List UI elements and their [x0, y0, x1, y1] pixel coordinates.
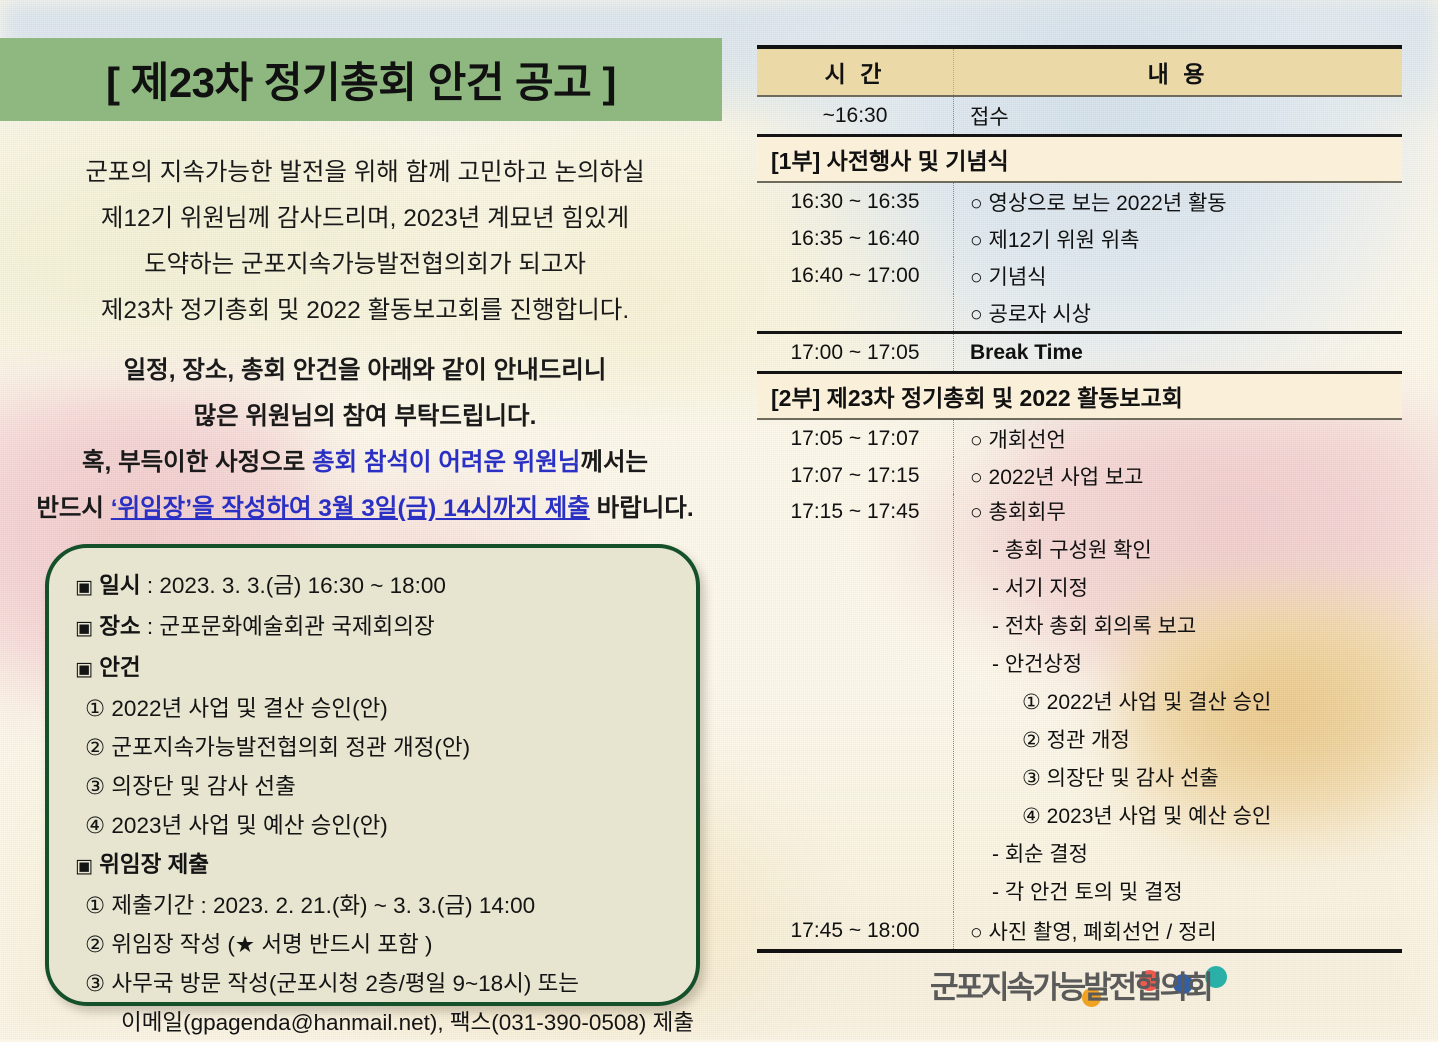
highlight-proxy-deadline: ‘위임장’을 작성하여 3월 3일(금) 14시까지 제출 — [111, 495, 590, 522]
details-box: ▣ 일시 : 2023. 3. 3.(금) 16:30 ~ 18:00 ▣ 장소… — [45, 544, 700, 1006]
table-row-reception: ~16:30 접수 — [757, 97, 1402, 134]
row-time: 17:07 ~ 17:15 — [757, 457, 953, 494]
detail-place-label: 장소 — [99, 614, 140, 639]
section-header-part1: [1부] 사전행사 및 기념식 — [757, 137, 1402, 181]
intro-line-proxy-note: 혹, 부득이한 사정으로 총회 참석이 어려운 위원님께서는 — [0, 440, 730, 486]
intro-line: 군포의 지속가능한 발전을 위해 함께 고민하고 논의하실 — [0, 150, 730, 196]
proxy-item: ③ 사무국 방문 작성(군포시청 2층/평일 9~18시) 또는 — [75, 964, 670, 1003]
square-bullet-icon: ▣ — [75, 618, 93, 639]
square-bullet-icon: ▣ — [75, 577, 93, 598]
business-subitem: ① 2022년 사업 및 결산 승인 — [970, 684, 1402, 722]
intro-line: 많은 위원님의 참여 부탁드립니다. — [0, 394, 730, 440]
agenda-item: ① 2022년 사업 및 결산 승인(안) — [75, 689, 670, 728]
business-item: - 총회 구성원 확인 — [970, 532, 1402, 570]
table-row: 17:07 ~ 17:15 ○ 2022년 사업 보고 — [757, 457, 1402, 494]
column-header-time: 시 간 — [757, 55, 953, 89]
table-row: 16:30 ~ 16:35 ○ 영상으로 보는 2022년 활동 — [757, 183, 1402, 220]
detail-date-value: : 2023. 3. 3.(금) 16:30 ~ 18:00 — [141, 573, 446, 598]
detail-date-label: 일시 — [99, 573, 140, 598]
row-content-block: ○ 총회회무 - 총회 구성원 확인 - 서기 지정 - 전차 총회 회의록 보… — [953, 494, 1402, 912]
detail-agenda-label: 안건 — [99, 655, 140, 680]
text-post: 께서는 — [580, 449, 648, 476]
proxy-contact: 이메일(gpagenda@hanmail.net), 팩스(031-390-05… — [75, 1003, 670, 1042]
detail-proxy-header: ▣ 위임장 제출 — [75, 845, 670, 886]
table-row: 16:35 ~ 16:40 ○ 제12기 위원 위촉 — [757, 220, 1402, 257]
intro-paragraph-1: 군포의 지속가능한 발전을 위해 함께 고민하고 논의하실 제12기 위원님께 … — [0, 150, 730, 334]
table-row: 16:40 ~ 17:00 ○ 기념식 — [757, 257, 1402, 294]
table-bottom-rule — [757, 949, 1402, 953]
logo-text: 군포지속가능발전협의회 — [930, 970, 1211, 1005]
business-item: - 각 안건 토의 및 결정 — [970, 874, 1402, 912]
row-content: ○ 기념식 — [953, 257, 1402, 294]
business-item: - 전차 총회 회의록 보고 — [970, 608, 1402, 646]
detail-agenda-header: ▣ 안건 — [75, 648, 670, 689]
agenda-item: ③ 의장단 및 감사 선출 — [75, 767, 670, 806]
intro-paragraph-2: 일정, 장소, 총회 안건을 아래와 같이 안내드리니 많은 위원님의 참여 부… — [0, 348, 730, 532]
row-content: ○ 제12기 위원 위촉 — [953, 220, 1402, 257]
table-header-row: 시 간 내 용 — [757, 49, 1402, 95]
row-time: 17:15 ~ 17:45 — [757, 494, 953, 912]
detail-place: ▣ 장소 : 군포문화예술회관 국제회의장 — [75, 607, 670, 648]
section-header-part2: [2부] 제23차 정기총회 및 2022 활동보고회 — [757, 374, 1402, 418]
table-row-closing: 17:45 ~ 18:00 ○ 사진 촬영, 폐회선언 / 정리 — [757, 912, 1402, 949]
row-time: 17:05 ~ 17:07 — [757, 420, 953, 457]
intro-line: 일정, 장소, 총회 안건을 아래와 같이 안내드리니 — [0, 348, 730, 394]
row-time — [757, 294, 953, 331]
business-heading: ○ 총회회무 — [970, 494, 1402, 532]
row-content: ○ 공로자 시상 — [953, 294, 1402, 331]
highlight-absent-member: 총회 참석이 어려운 위원님 — [312, 449, 580, 476]
row-content: Break Time — [953, 334, 1402, 371]
business-item: - 서기 지정 — [970, 570, 1402, 608]
intro-line-proxy-deadline: 반드시 ‘위임장’을 작성하여 3월 3일(금) 14시까지 제출 바랍니다. — [0, 486, 730, 532]
intro-line: 제12기 위원님께 감사드리며, 2023년 계묘년 힘있게 — [0, 196, 730, 242]
text-pre: 혹, 부득이한 사정으로 — [82, 449, 312, 476]
square-bullet-icon: ▣ — [75, 659, 93, 680]
title-banner: [ 제23차 정기총회 안건 공고 ] — [0, 38, 722, 121]
row-content: ○ 개회선언 — [953, 420, 1402, 457]
row-time: 16:30 ~ 16:35 — [757, 183, 953, 220]
organization-logo: 군포지속가능발전협의회 — [930, 962, 1230, 1018]
business-subitem: ③ 의장단 및 감사 선출 — [970, 760, 1402, 798]
intro-line: 제23차 정기총회 및 2022 활동보고회를 진행합니다. — [0, 288, 730, 334]
intro-line: 도약하는 군포지속가능발전협의회가 되고자 — [0, 242, 730, 288]
table-row: 17:05 ~ 17:07 ○ 개회선언 — [757, 420, 1402, 457]
row-content: ○ 사진 촬영, 폐회선언 / 정리 — [953, 912, 1402, 949]
table-row-break: 17:00 ~ 17:05 Break Time — [757, 334, 1402, 371]
detail-place-value: : 군포문화예술회관 국제회의장 — [141, 614, 435, 639]
table-row-business: 17:15 ~ 17:45 ○ 총회회무 - 총회 구성원 확인 - 서기 지정… — [757, 494, 1402, 912]
row-content: ○ 2022년 사업 보고 — [953, 457, 1402, 494]
business-item: - 회순 결정 — [970, 836, 1402, 874]
business-subitem: ④ 2023년 사업 및 예산 승인 — [970, 798, 1402, 836]
text-post: 바랍니다. — [590, 495, 694, 522]
column-header-content: 내 용 — [953, 49, 1402, 95]
text-pre: 반드시 — [36, 495, 110, 522]
business-item: - 안건상정 — [970, 646, 1402, 684]
row-time: ~16:30 — [757, 97, 953, 134]
page-title: [ 제23차 정기총회 안건 공고 ] — [106, 49, 616, 110]
square-bullet-icon: ▣ — [75, 856, 93, 877]
row-time: 16:35 ~ 16:40 — [757, 220, 953, 257]
row-content: ○ 영상으로 보는 2022년 활동 — [953, 183, 1402, 220]
intro-text: 군포의 지속가능한 발전을 위해 함께 고민하고 논의하실 제12기 위원님께 … — [0, 150, 730, 532]
agenda-item: ② 군포지속가능발전협의회 정관 개정(안) — [75, 728, 670, 767]
proxy-item: ② 위임장 작성 (★ 서명 반드시 포함 ) — [75, 925, 670, 964]
row-time: 16:40 ~ 17:00 — [757, 257, 953, 294]
schedule-table: 시 간 내 용 ~16:30 접수 [1부] 사전행사 및 기념식 16:30 … — [757, 45, 1402, 953]
detail-proxy-label: 위임장 제출 — [99, 852, 209, 877]
proxy-item: ① 제출기간 : 2023. 2. 21.(화) ~ 3. 3.(금) 14:0… — [75, 886, 670, 925]
table-row: ○ 공로자 시상 — [757, 294, 1402, 331]
row-time: 17:45 ~ 18:00 — [757, 912, 953, 949]
row-time: 17:00 ~ 17:05 — [757, 334, 953, 371]
row-content: 접수 — [953, 97, 1402, 134]
agenda-item: ④ 2023년 사업 및 예산 승인(안) — [75, 806, 670, 845]
detail-date: ▣ 일시 : 2023. 3. 3.(금) 16:30 ~ 18:00 — [75, 566, 670, 607]
business-subitem: ② 정관 개정 — [970, 722, 1402, 760]
